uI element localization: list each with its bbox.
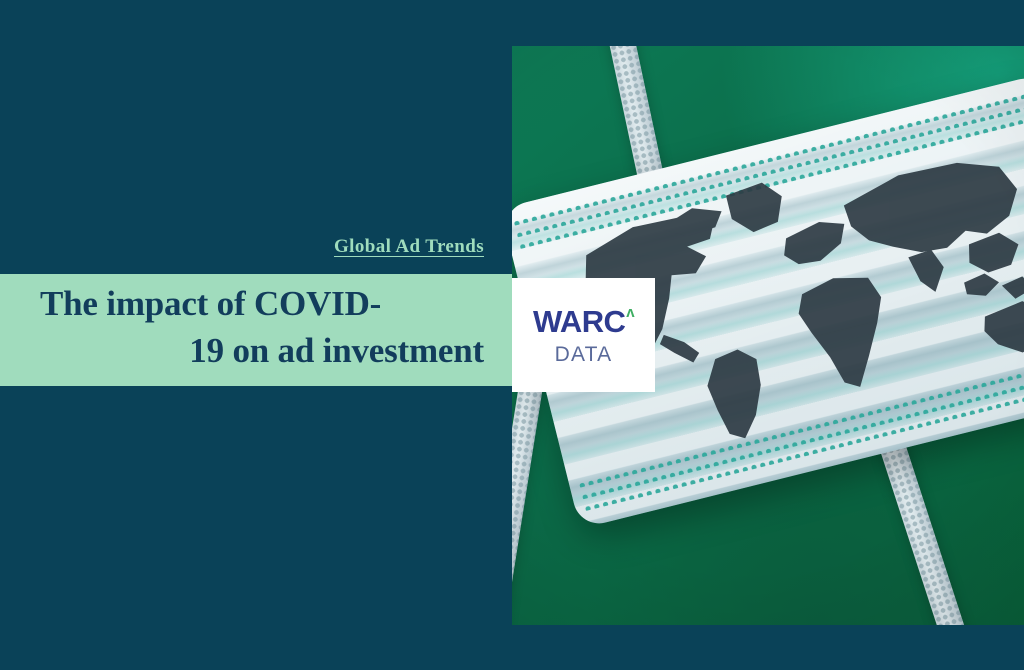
ear-loop-bottom-left (512, 368, 545, 625)
page-title-line-2: 19 on ad investment (40, 327, 484, 374)
kicker-label: Global Ad Trends (334, 236, 484, 258)
warc-caret-icon: ʌ (626, 305, 634, 320)
warc-wordmark-text: WARC (533, 306, 625, 337)
page-title-line-1: The impact of COVID- (40, 280, 484, 327)
warc-logo-subtitle: DATA (555, 344, 613, 365)
slide-canvas: Global Ad Trends The impact of COVID- 19… (0, 0, 1024, 670)
warc-wordmark: WARC ʌ (533, 306, 634, 337)
warc-data-logo: WARC ʌ DATA (512, 278, 655, 392)
page-title: The impact of COVID- 19 on ad investment (0, 280, 498, 374)
